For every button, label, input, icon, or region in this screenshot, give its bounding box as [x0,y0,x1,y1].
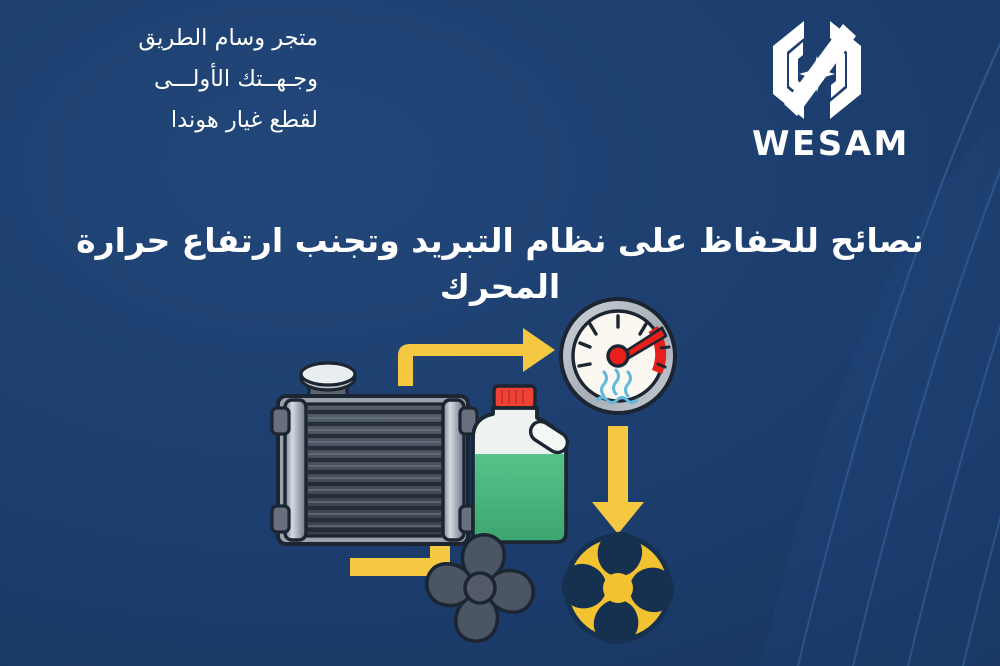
cooling-fan-badge-icon [562,532,675,645]
brand-tagline-line-2: وجـهــتك الأولـــى [0,59,318,100]
brand-tagline: متجر وسام الطريق وجـهــتك الأولـــى لقطع… [0,18,340,141]
engine-cooling-system-diagram [250,288,690,666]
brand-tagline-line-1: متجر وسام الطريق [0,18,318,59]
arrow-down-icon [592,426,644,534]
logo-wordmark: WESAM [752,124,882,164]
brand-logo: WESAM [752,18,882,164]
wesam-hexagon-monogram-icon [757,18,877,122]
coolant-bottle-icon [473,386,571,542]
temperature-gauge-icon [561,299,675,413]
brand-tagline-line-3: لقطع غيار هوندا [0,100,318,141]
arrow-right-up-icon [398,328,555,386]
poster-canvas: متجر وسام الطريق وجـهــتك الأولـــى لقطع… [0,0,1000,666]
radiator-icon [272,363,477,544]
